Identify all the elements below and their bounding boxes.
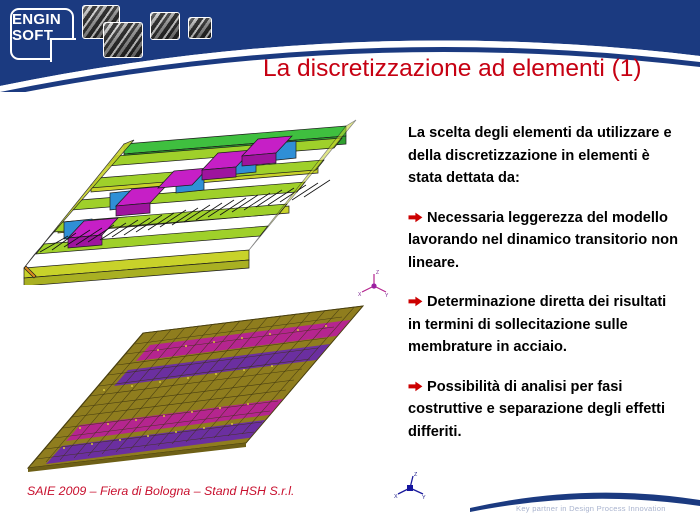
svg-text:Y: Y	[385, 293, 389, 299]
arrow-bullet-icon	[408, 381, 423, 392]
thumbnail-2	[103, 22, 143, 58]
bullet-item-1-text: Necessaria leggerezza del modello lavora…	[408, 210, 678, 271]
content-text-column: La scelta degli elementi da utilizzare e…	[408, 122, 678, 460]
logo-line-1: ENGIN	[12, 12, 74, 28]
bullet-item-3-text: Possibilità di analisi per fasi costrutt…	[408, 379, 665, 440]
fem-shell-slab-model	[18, 278, 378, 483]
bullet-item-3: Possibilità di analisi per fasi costrutt…	[408, 376, 678, 444]
axis-triad-blue: ZXY	[393, 468, 429, 509]
footer-event-label: SAIE 2009 – Fiera di Bologna – Stand HSH…	[27, 484, 294, 498]
intro-paragraph: La scelta degli elementi da utilizzare e…	[408, 122, 678, 190]
logo-corner-accent	[50, 38, 76, 62]
footer-tagline: Key partner in Design Process Innovation	[516, 504, 666, 513]
fem-beam-grillage-model	[6, 100, 366, 285]
arrow-bullet-icon	[408, 296, 423, 307]
thumbnail-3	[150, 12, 180, 40]
presentation-slide: ENGIN SOFT La discretizzazione ad elemen…	[0, 0, 700, 525]
bullet-item-2-text: Determinazione diretta dei risultati in …	[408, 294, 666, 355]
svg-text:Z: Z	[414, 472, 418, 478]
svg-text:Z: Z	[376, 270, 379, 276]
page-title: La discretizzazione ad elementi (1)	[263, 55, 693, 83]
svg-text:X: X	[394, 494, 398, 500]
bullet-item-1: Necessaria leggerezza del modello lavora…	[408, 207, 678, 275]
arrow-bullet-icon	[408, 212, 423, 223]
bullet-item-2: Determinazione diretta dei risultati in …	[408, 291, 678, 359]
thumbnail-4	[188, 17, 212, 39]
svg-text:Y: Y	[422, 495, 426, 501]
